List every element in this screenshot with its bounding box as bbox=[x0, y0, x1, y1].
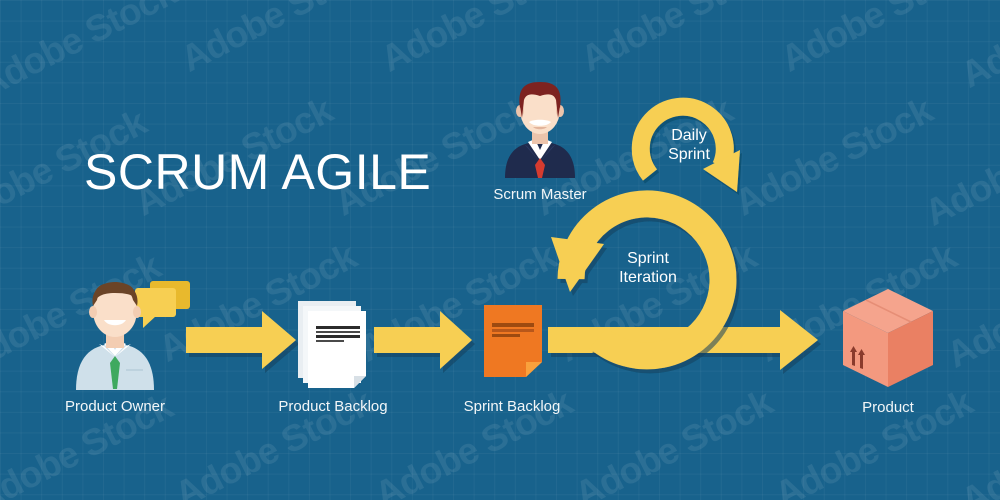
watermark-tile: Adobe Stock bbox=[0, 0, 183, 107]
watermark-tile: Adobe Stock bbox=[374, 0, 585, 81]
label-sprint-iteration-line1: Sprint bbox=[619, 249, 677, 268]
watermark-layer: Adobe Stock Adobe Stock Adobe Stock Adob… bbox=[0, 0, 1000, 500]
watermark-tile: Adobe Stock bbox=[774, 0, 985, 81]
label-sprint-backlog: Sprint Backlog bbox=[464, 398, 561, 415]
speech-bubble-back-icon bbox=[150, 281, 190, 309]
label-daily-sprint-line1: Daily bbox=[668, 126, 710, 145]
watermark-tile: Adobe Stock bbox=[728, 89, 939, 224]
watermark-tile: Adobe Stock bbox=[918, 99, 1000, 234]
label-product-backlog: Product Backlog bbox=[278, 398, 387, 415]
product-backlog-icon bbox=[298, 301, 366, 388]
watermark-tile: Adobe Stock bbox=[940, 241, 1000, 376]
diagram-canvas bbox=[0, 0, 1000, 500]
label-sprint-iteration-line2: Iteration bbox=[619, 268, 677, 287]
label-scrum-master: Scrum Master bbox=[493, 186, 586, 203]
product-owner-avatar bbox=[76, 281, 190, 390]
label-daily-sprint-line2: Sprint bbox=[668, 145, 710, 164]
this-way-up-marks-icon bbox=[850, 346, 865, 369]
watermark-tile: Adobe Stock bbox=[574, 0, 785, 81]
watermark-tile: Adobe Stock bbox=[352, 235, 563, 370]
watermark-tile: Adobe Stock bbox=[752, 235, 963, 370]
speech-bubble-front-icon bbox=[135, 288, 176, 328]
label-sprint-iteration: Sprint Iteration bbox=[619, 249, 677, 287]
arrow-backlog-to-sprint bbox=[374, 311, 472, 369]
product-box-icon bbox=[843, 289, 933, 387]
label-daily-sprint: Daily Sprint bbox=[668, 126, 710, 164]
watermark-tile: Adobe Stock bbox=[568, 381, 779, 500]
label-product: Product bbox=[862, 399, 914, 416]
arrow-owner-to-backlog bbox=[186, 311, 296, 369]
scrum-agile-infographic: Adobe Stock Adobe Stock Adobe Stock Adob… bbox=[0, 0, 1000, 500]
page-title: SCRUM AGILE bbox=[84, 143, 431, 201]
sprint-backlog-icon bbox=[484, 305, 542, 377]
scrum-master-avatar bbox=[505, 82, 575, 178]
watermark-tile: Adobe Stock bbox=[954, 0, 1000, 97]
watermark-tile: Adobe Stock bbox=[174, 0, 385, 81]
label-product-owner: Product Owner bbox=[65, 398, 165, 415]
arrow-sprint-to-product bbox=[548, 310, 818, 370]
watermark-tile: Adobe Stock bbox=[0, 245, 167, 380]
watermark-tile: Adobe Stock bbox=[954, 387, 1000, 500]
watermark-tile: Adobe Stock bbox=[152, 235, 363, 370]
